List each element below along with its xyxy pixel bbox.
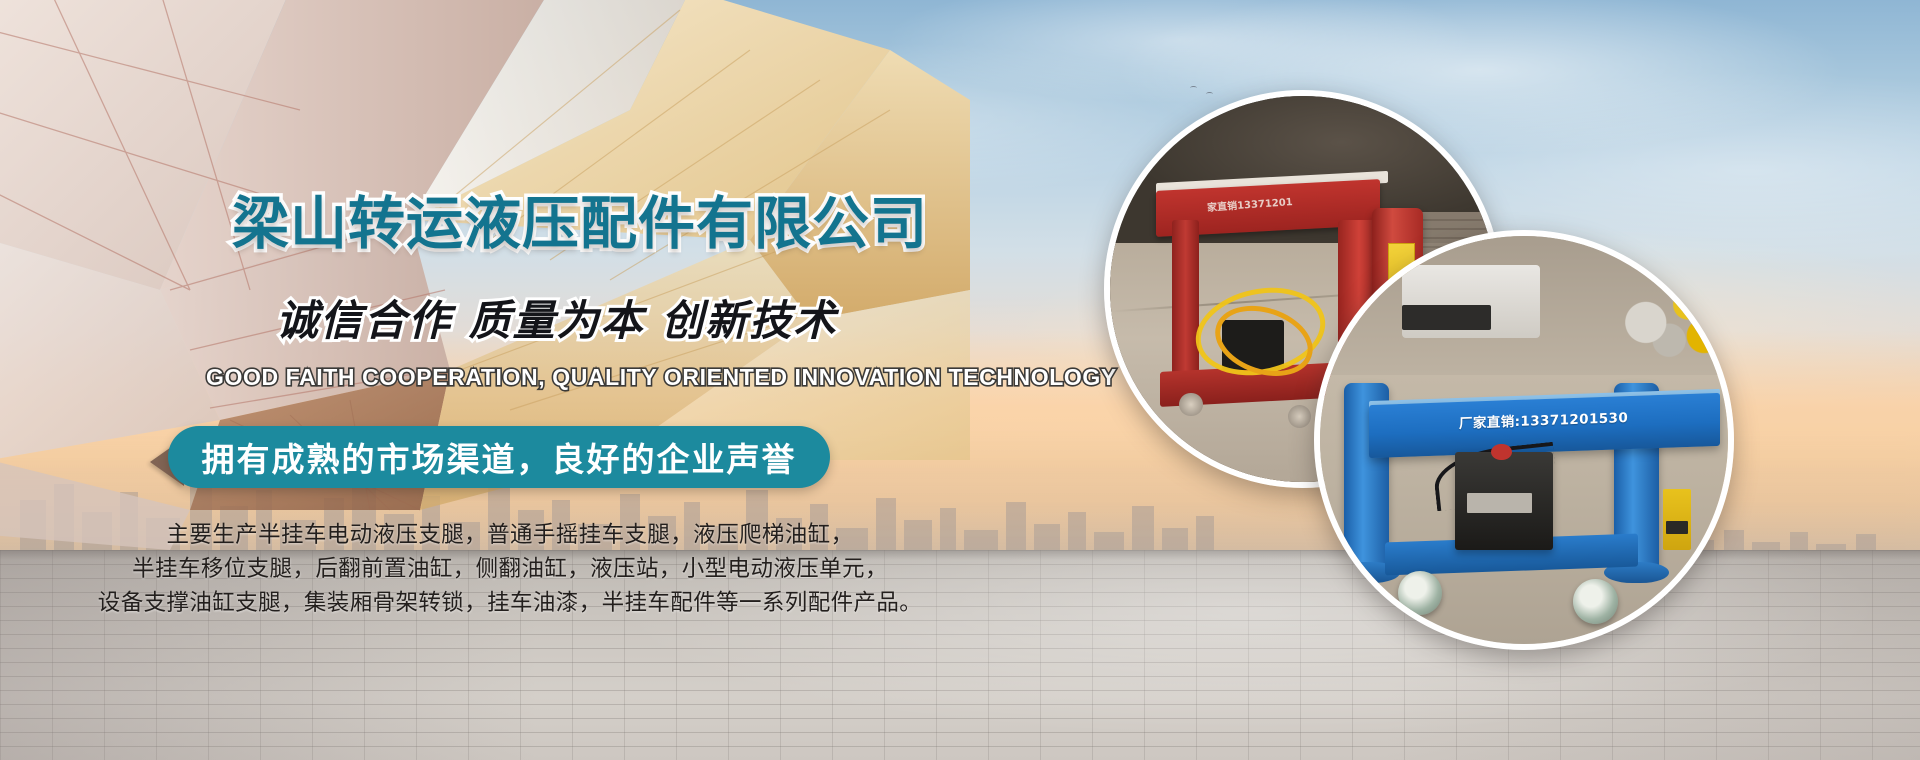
company-title: 梁山转运液压配件有限公司 [232,196,928,253]
photo-caster-wheel [1288,405,1311,428]
photo-emergency-stop-button [1491,444,1511,460]
highlight-bar-label: 拥有成熟的市场渠道，良好的企业声誉 [202,433,797,481]
promotional-banner: 梁山转运液压配件有限公司 诚信合作 质量为本 创新技术 GOOD FAITH C… [0,0,1920,760]
photo-truck-grille [1402,305,1492,329]
headline-text-block: 梁山转运液压配件有限公司 诚信合作 质量为本 创新技术 GOOD FAITH C… [0,0,1020,760]
photo-left-leg [1172,220,1199,382]
description-line: 主要生产半挂车电动液压支腿，普通手摇挂车支腿，液压爬梯油缸， [0,518,1020,552]
slogan-chinese: 诚信合作 质量为本 创新技术 [276,300,837,342]
product-photo-circle-blue: 厂家直销:13371201530 [1314,230,1734,650]
photo-caster-wheel [1573,579,1618,624]
description-line: 半挂车移位支腿，后翻前置油缸，侧翻油缸，液压站，小型电动液压单元， [0,552,1020,586]
blue-hydraulic-landing-gear-photo: 厂家直销:13371201530 [1320,236,1728,644]
photo-name-plate [1467,493,1532,513]
photo-control-pendant [1663,489,1692,550]
photo-caster-wheel [1179,393,1202,416]
highlight-bar: 拥有成熟的市场渠道，良好的企业声誉 [168,426,830,488]
photo-caster-wheel [1398,571,1443,616]
photo-yard-clutter [1614,269,1720,359]
bird-icon [1190,86,1197,90]
slogan-english: GOOD FAITH COOPERATION, QUALITY ORIENTED… [206,366,1117,389]
description-line: 设备支撑油缸支腿，集装厢骨架转锁，挂车油漆，半挂车配件等一系列配件产品。 [0,586,1020,620]
description-paragraph: 主要生产半挂车电动液压支腿，普通手摇挂车支腿，液压爬梯油缸， 半挂车移位支腿，后… [0,518,1020,620]
